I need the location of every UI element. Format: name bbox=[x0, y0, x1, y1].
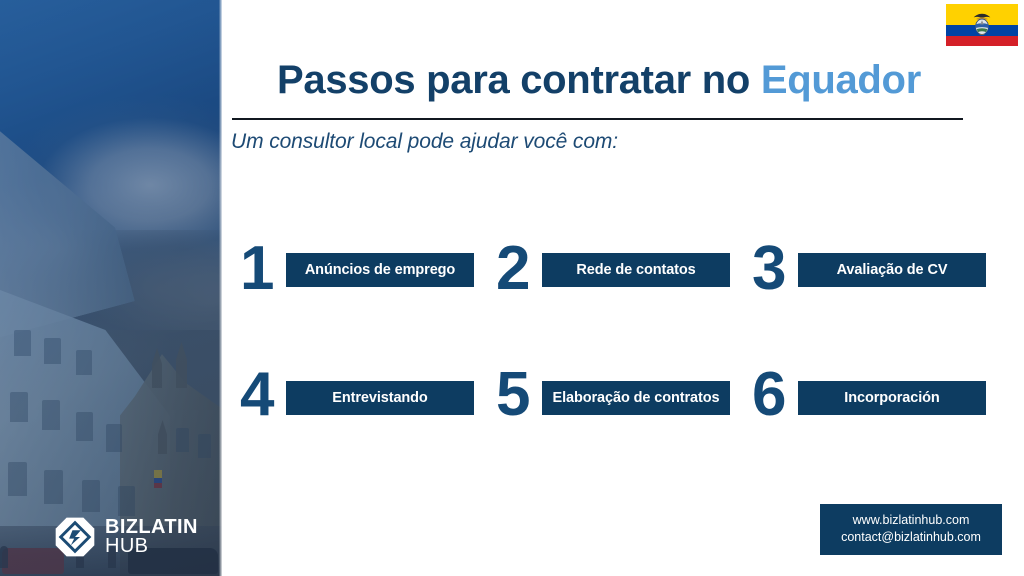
title-accent: Equador bbox=[761, 58, 921, 102]
contact-box: www.bizlatinhub.com contact@bizlatinhub.… bbox=[820, 504, 1002, 555]
step-label-box[interactable]: Rede de contatos bbox=[542, 253, 730, 287]
step-label-box[interactable]: Incorporación bbox=[798, 381, 986, 415]
window bbox=[118, 486, 135, 516]
step-number: 1 bbox=[240, 240, 286, 298]
step-number: 2 bbox=[496, 240, 542, 298]
page-title: Passos para contratar no Equador bbox=[232, 58, 966, 103]
logo-line-2: HUB bbox=[105, 537, 198, 556]
step-number: 3 bbox=[752, 240, 798, 298]
logo-wordmark: BIZLATIN HUB bbox=[105, 518, 198, 556]
step-item-1[interactable]: 1 Anúncios de emprego bbox=[240, 236, 496, 364]
pedestrian bbox=[0, 546, 8, 568]
slide-canvas: BIZLATIN HUB Passos para contratar no Eq… bbox=[0, 0, 1024, 576]
window bbox=[76, 412, 93, 441]
steps-grid: 1 Anúncios de emprego 2 Rede de contatos… bbox=[240, 236, 1010, 472]
window bbox=[76, 350, 92, 375]
step-number: 5 bbox=[496, 366, 542, 424]
step-number: 6 bbox=[752, 366, 798, 424]
step-item-6[interactable]: 6 Incorporación bbox=[752, 364, 1008, 472]
window bbox=[42, 400, 60, 430]
step-item-4[interactable]: 4 Entrevistando bbox=[240, 364, 496, 472]
bizlatinhub-badge-icon bbox=[54, 516, 96, 558]
window bbox=[10, 392, 28, 422]
step-number: 4 bbox=[240, 366, 286, 424]
ecuador-coat-of-arms-icon bbox=[970, 12, 994, 38]
title-main: Passos para contratar no bbox=[277, 58, 750, 102]
ecuador-flag bbox=[946, 4, 1018, 46]
window bbox=[82, 480, 100, 512]
panel-edge-divider bbox=[219, 0, 222, 576]
step-item-3[interactable]: 3 Avaliação de CV bbox=[752, 236, 1008, 364]
window bbox=[176, 428, 189, 452]
page-subtitle: Um consultor local pode ajudar você com: bbox=[231, 130, 618, 154]
window bbox=[44, 338, 61, 364]
step-item-2[interactable]: 2 Rede de contatos bbox=[496, 236, 752, 364]
contact-website[interactable]: www.bizlatinhub.com bbox=[826, 512, 996, 529]
window bbox=[44, 470, 63, 504]
step-item-5[interactable]: 5 Elaboração de contratos bbox=[496, 364, 752, 472]
step-label-box[interactable]: Anúncios de emprego bbox=[286, 253, 474, 287]
title-divider bbox=[232, 118, 963, 120]
step-label-box[interactable]: Avaliação de CV bbox=[798, 253, 986, 287]
bizlatinhub-logo: BIZLATIN HUB bbox=[54, 516, 198, 558]
step-label-box[interactable]: Elaboração de contratos bbox=[542, 381, 730, 415]
window bbox=[198, 434, 211, 458]
window bbox=[8, 462, 27, 496]
contact-email[interactable]: contact@bizlatinhub.com bbox=[826, 529, 996, 546]
balcony-flag-icon bbox=[154, 470, 162, 488]
window bbox=[14, 330, 31, 356]
window bbox=[106, 424, 122, 452]
hero-photo-panel: BIZLATIN HUB bbox=[0, 0, 222, 576]
step-label-box[interactable]: Entrevistando bbox=[286, 381, 474, 415]
